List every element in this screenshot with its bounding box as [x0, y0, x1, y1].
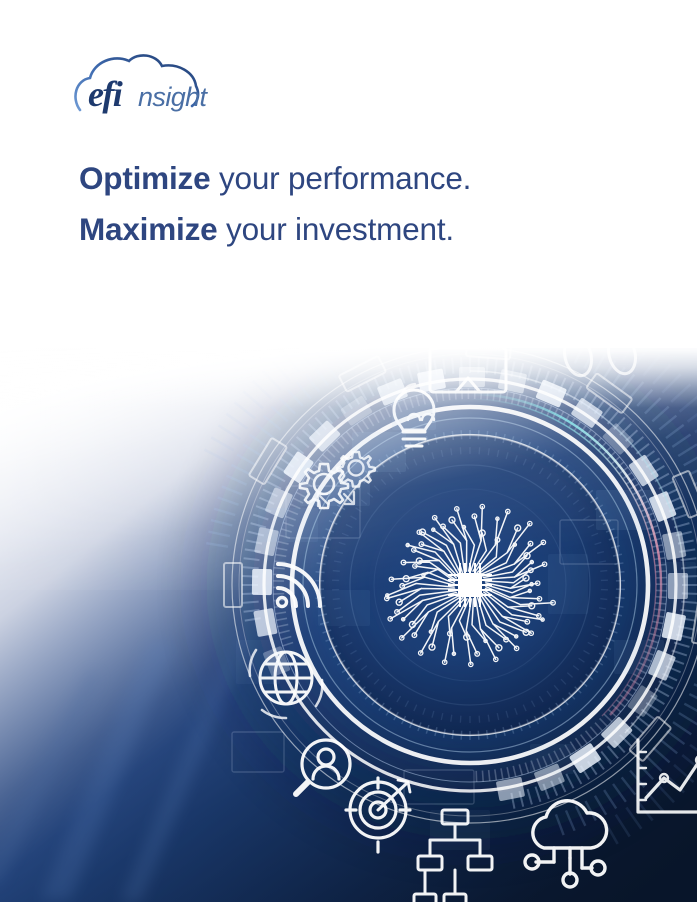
- headline-line-2-rest: your investment.: [217, 211, 453, 247]
- hero-image: [0, 340, 697, 902]
- cover-page: efi nsight Optimize your performance. Ma…: [0, 0, 697, 902]
- efi-insight-logo[interactable]: efi nsight: [74, 54, 224, 116]
- page-title: Optimize your performance. Maximize your…: [79, 156, 639, 258]
- headline-line-2: Maximize your investment.: [79, 207, 639, 258]
- headline-line-1: Optimize your performance.: [79, 156, 639, 207]
- headline-line-2-strong: Maximize: [79, 211, 217, 247]
- logo-word-bold: efi: [88, 74, 123, 114]
- headline-line-1-strong: Optimize: [79, 160, 210, 196]
- header-area: efi nsight Optimize your performance. Ma…: [0, 0, 697, 348]
- headline-line-1-rest: your performance.: [210, 160, 471, 196]
- logo-word-light: nsight: [138, 82, 209, 112]
